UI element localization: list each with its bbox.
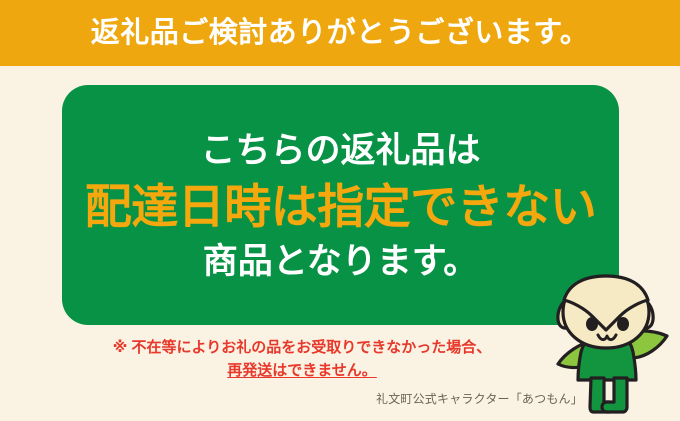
panel-line-3: 商品となります。: [203, 244, 478, 281]
mascot-eye-right: [617, 317, 629, 331]
panel-line-2-highlight: 配達日時は指定できない: [85, 182, 597, 231]
mascot-eye-left: [586, 317, 598, 331]
panel-line-1: こちらの返礼品は: [200, 133, 480, 170]
mascot-boot-right: [602, 378, 627, 412]
header-title: 返礼品ご検討ありがとうございます。: [91, 19, 590, 48]
header-bar: 返礼品ご検討ありがとうございます。: [0, 0, 680, 66]
caution-note: ※ 不在等によりお礼の品をお受取りできなかった場合、 再発送はできません。: [62, 336, 542, 383]
mascot-illustration: [536, 268, 680, 421]
caution-line-2-underlined: 再発送はできません。: [62, 359, 542, 382]
notice-banner: 返礼品ご検討ありがとうございます。 こちらの返礼品は 配達日時は指定できない 商…: [0, 0, 680, 421]
caution-line-1: ※ 不在等によりお礼の品をお受取りできなかった場合、: [62, 336, 542, 359]
